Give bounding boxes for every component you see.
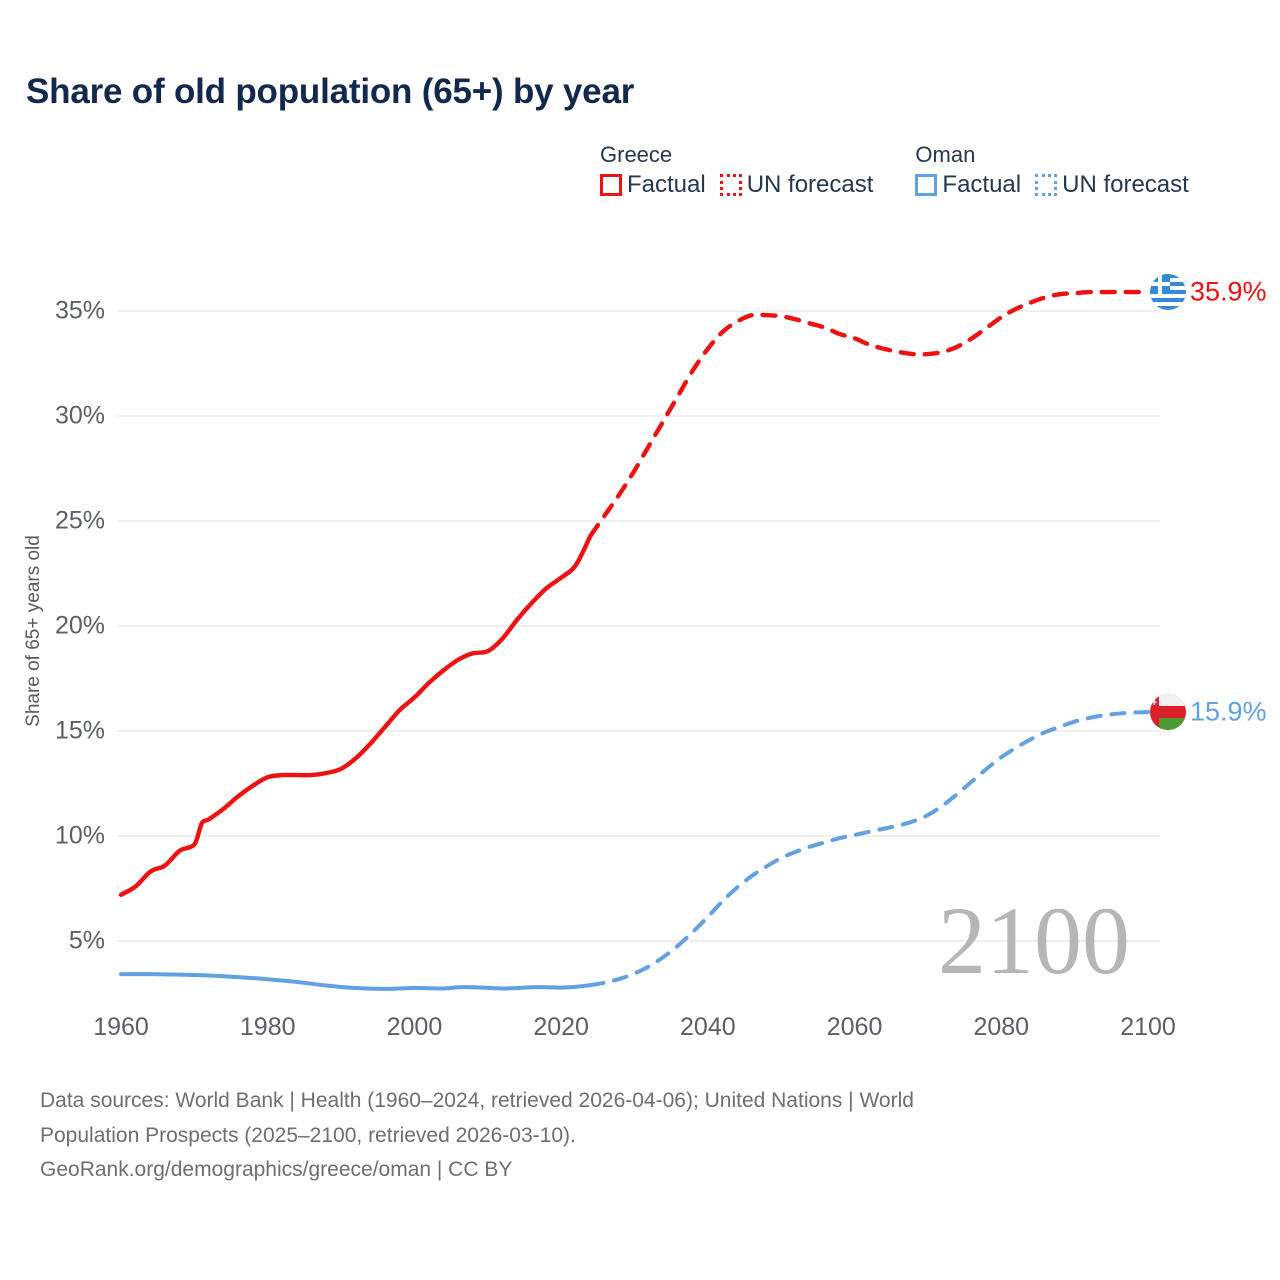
line-greece-forecast [590, 292, 1148, 536]
year-watermark: 2100 [938, 893, 1130, 989]
footer-line-1: Data sources: World Bank | Health (1960–… [40, 1085, 1240, 1118]
oman-flag-icon [1150, 694, 1186, 730]
gridlines [117, 311, 1160, 941]
line-oman-factual [121, 974, 590, 989]
footer-line-2: Population Prospects (2025–2100, retriev… [40, 1120, 1240, 1153]
chart-plot-area: Share of 65+ years old 5%10%15%20%25%30%… [0, 0, 1280, 1080]
series-lines [121, 292, 1148, 989]
greece-end-value: 35.9% [1190, 277, 1267, 308]
greece-flag-icon [1150, 274, 1186, 310]
footer-sources: Data sources: World Bank | Health (1960–… [40, 1085, 1240, 1187]
oman-end-value: 15.9% [1190, 697, 1267, 728]
footer-line-3[interactable]: GeoRank.org/demographics/greece/oman | C… [40, 1154, 1240, 1187]
line-greece-factual [121, 536, 590, 895]
